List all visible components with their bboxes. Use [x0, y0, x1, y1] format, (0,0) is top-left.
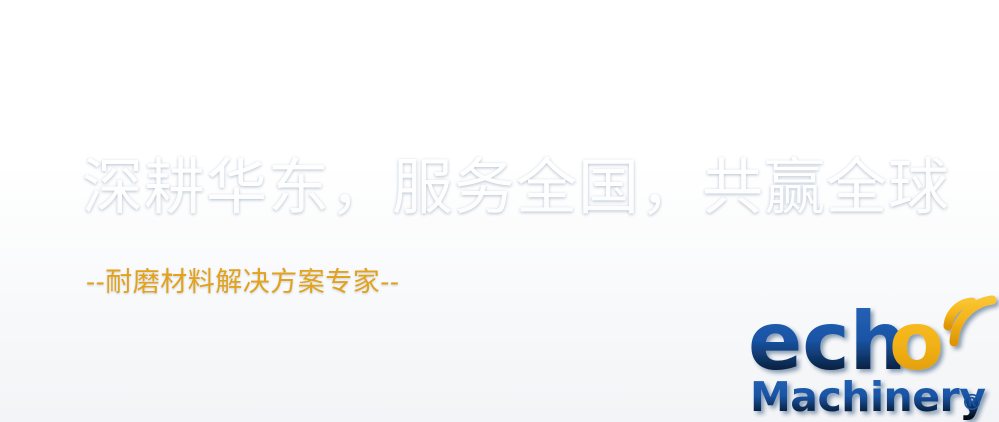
banner-subtitle: --耐磨材料解决方案专家--	[86, 266, 400, 300]
promo-banner: 深耕华东，服务全国，共赢全球 --耐磨材料解决方案专家--	[0, 0, 999, 422]
page-title: 深耕华东，服务全国，共赢全球	[82, 152, 950, 224]
echo-machinery-logo[interactable]: ech o Machinery ®	[748, 296, 994, 418]
logo-tagline-machinery: Machinery	[750, 373, 985, 421]
signal-arcs-icon	[948, 300, 992, 342]
registered-trademark-icon: ®	[961, 391, 983, 416]
